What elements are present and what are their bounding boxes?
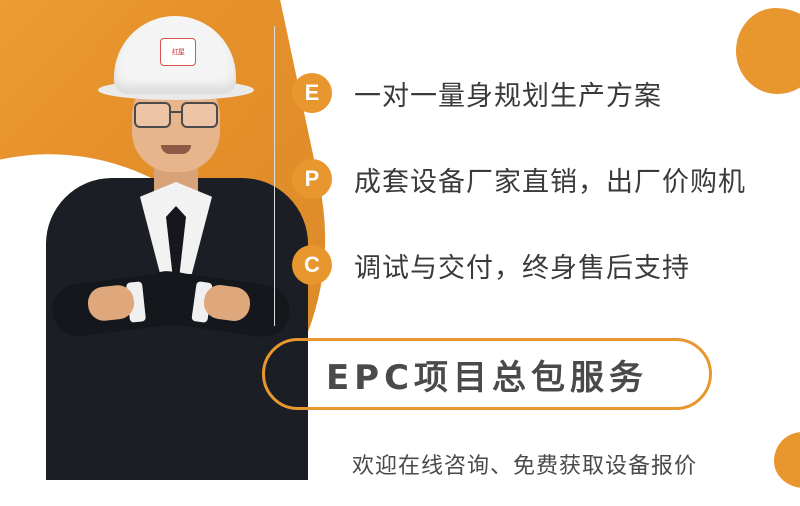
feature-row: E 一对一量身规划生产方案 bbox=[292, 50, 762, 136]
feature-badge-e: E bbox=[292, 73, 332, 113]
feature-list: E 一对一量身规划生产方案 P 成套设备厂家直销，出厂价购机 C 调试与交付，终… bbox=[292, 50, 762, 308]
footer-note: 欢迎在线咨询、免费获取设备报价 bbox=[352, 448, 697, 480]
glasses-lens-left bbox=[134, 102, 171, 128]
feature-text-c: 调试与交付，终身售后支持 bbox=[354, 246, 690, 285]
helmet-logo: 红星 bbox=[160, 38, 196, 66]
decorative-blob-bottom-right-icon bbox=[774, 432, 800, 488]
vertical-divider bbox=[274, 26, 275, 326]
feature-badge-p: P bbox=[292, 159, 332, 199]
feature-badge-c: C bbox=[292, 245, 332, 285]
feature-row: C 调试与交付，终身售后支持 bbox=[292, 222, 762, 308]
feature-text-e: 一对一量身规划生产方案 bbox=[354, 74, 662, 113]
glasses-lens-right bbox=[181, 102, 218, 128]
engineer-photo: 红星 bbox=[36, 10, 336, 480]
promo-banner: 红星 E 一对一量身规划生产方案 P 成套设备厂家直销，出厂价购机 C 调试与交… bbox=[0, 0, 800, 506]
epc-highlight-text: EPC项目总包服务 bbox=[326, 350, 648, 399]
person-glasses-icon bbox=[134, 102, 218, 124]
epc-highlight-pill: EPC项目总包服务 bbox=[262, 338, 712, 410]
person-mouth bbox=[161, 145, 191, 154]
feature-text-p: 成套设备厂家直销，出厂价购机 bbox=[354, 160, 746, 199]
feature-row: P 成套设备厂家直销，出厂价购机 bbox=[292, 136, 762, 222]
